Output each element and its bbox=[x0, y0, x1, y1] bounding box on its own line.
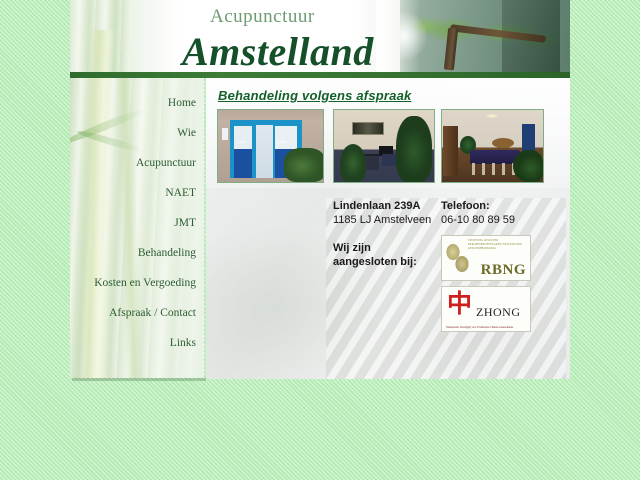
telephone-label: Telefoon: bbox=[441, 199, 515, 213]
rbng-logo[interactable]: STICHTING REGISTER BEROEPSBEOEFENAREN NA… bbox=[441, 235, 531, 281]
banner-photo-fade bbox=[376, 0, 420, 74]
address-city: 1185 LJ Amstelveen bbox=[333, 213, 431, 227]
zhong-fine-print: Nederlandse Vereniging voor Traditionele… bbox=[446, 326, 528, 330]
site-container: Acupunctuur Amstelland Home Wie Acupunct… bbox=[70, 0, 570, 379]
rbng-acronym: RBNG bbox=[481, 262, 526, 279]
telephone-block: Telefoon: 06-10 80 89 59 bbox=[441, 199, 515, 227]
main-navigation: Home Wie Acupunctuur NAET JMT Behandelin… bbox=[74, 88, 196, 358]
telephone-number: 06-10 80 89 59 bbox=[441, 213, 515, 227]
clinic-entrance-photo: 239A 239A bbox=[217, 109, 324, 183]
zhong-logo[interactable]: 中 ZHONG Nederlandse Vereniging voor Trad… bbox=[441, 286, 531, 332]
sidebar-item-wie[interactable]: Wie bbox=[74, 118, 196, 148]
waiting-room-plant-small-shape bbox=[340, 144, 366, 182]
sidebar-item-home[interactable]: Home bbox=[74, 88, 196, 118]
rbng-fine-print: STICHTING REGISTER BEROEPSBEOEFENAREN NA… bbox=[468, 239, 526, 252]
entrance-house-number-left: 239A bbox=[237, 139, 246, 144]
pine-tree-cliff-photo bbox=[400, 0, 570, 74]
entrance-door-left-shape bbox=[234, 126, 252, 178]
entrance-house-number-right: 239A bbox=[277, 139, 286, 144]
treatment-room-cabinet-shape bbox=[443, 126, 458, 176]
zhong-acronym: ZHONG bbox=[476, 305, 521, 320]
address-block: Lindenlaan 239A 1185 LJ Amstelveen bbox=[333, 199, 431, 227]
treatment-room-plant-large-shape bbox=[513, 150, 543, 182]
waiting-room-photo bbox=[333, 109, 435, 183]
sidebar-item-afspraak-contact[interactable]: Afspraak / Contact bbox=[74, 298, 196, 328]
entrance-plaque-shape bbox=[222, 128, 228, 140]
banner-title: Amstelland bbox=[182, 28, 374, 75]
affiliation-line-2: aangesloten bij: bbox=[333, 255, 417, 269]
sidebar: Home Wie Acupunctuur NAET JMT Behandelin… bbox=[70, 78, 204, 378]
waiting-room-artwork-shape bbox=[352, 122, 384, 135]
zhong-chinese-character-icon: 中 bbox=[447, 291, 472, 316]
affiliation-line-1: Wij zijn bbox=[333, 241, 417, 255]
treatment-room-photo bbox=[441, 109, 544, 183]
address-street: Lindenlaan 239A bbox=[333, 199, 431, 213]
banner-subtitle: Acupunctuur bbox=[210, 6, 315, 28]
sidebar-item-kosten-en-vergoeding[interactable]: Kosten en Vergoeding bbox=[74, 268, 196, 298]
sidebar-item-naet[interactable]: NAET bbox=[74, 178, 196, 208]
entrance-door-middle-shape bbox=[255, 125, 274, 178]
sidebar-item-behandeling[interactable]: Behandeling bbox=[74, 238, 196, 268]
treatment-room-table-shape bbox=[492, 138, 514, 148]
waiting-room-plant-large-shape bbox=[396, 116, 432, 182]
sidebar-shadow bbox=[72, 378, 206, 381]
site-banner: Acupunctuur Amstelland bbox=[70, 0, 570, 78]
content-area: Behandeling volgens afspraak 239A 239A bbox=[206, 78, 570, 379]
waiting-room-chair-shape bbox=[382, 154, 396, 166]
treatment-room-lamp-shape bbox=[482, 114, 502, 119]
treatment-table-legs-shape bbox=[472, 163, 518, 175]
bamboo-photo bbox=[70, 0, 132, 78]
page-title: Behandeling volgens afspraak bbox=[218, 88, 411, 103]
main-content: Behandeling volgens afspraak 239A 239A bbox=[206, 78, 570, 379]
banner-divider bbox=[70, 72, 570, 78]
affiliation-label: Wij zijn aangesloten bij: bbox=[333, 241, 417, 269]
sidebar-item-jmt[interactable]: JMT bbox=[74, 208, 196, 238]
sidebar-item-acupunctuur[interactable]: Acupunctuur bbox=[74, 148, 196, 178]
entrance-bush-shape bbox=[284, 148, 324, 182]
sidebar-item-links[interactable]: Links bbox=[74, 328, 196, 358]
